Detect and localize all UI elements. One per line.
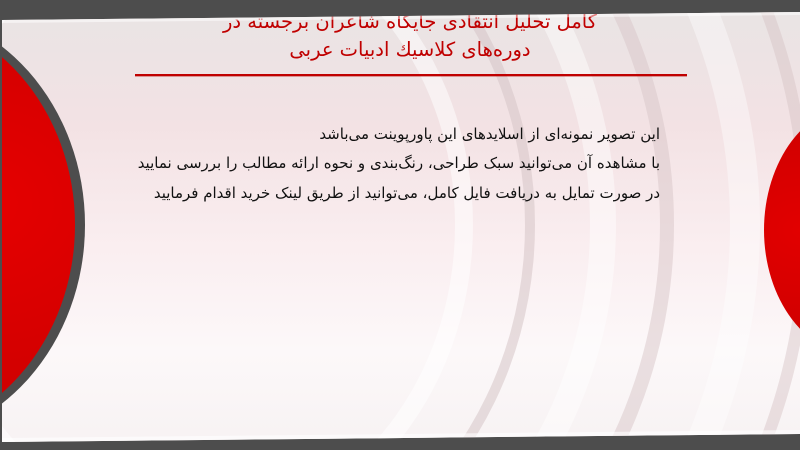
decorative-arc-band — [0, 0, 800, 450]
title-underline-rule — [135, 74, 687, 76]
decorative-arc-band — [0, 0, 800, 450]
slide-body-text: این تصویر نمونه‌ای از اسلایدهای این پاور… — [60, 120, 660, 208]
presentation-slide: کامل تحلیل انتقادی جایگاه شاعران برجسته … — [0, 0, 800, 450]
panel-background-gradient — [0, 0, 800, 450]
body-text-line-3: در صورت تمایل به دریافت فایل کامل، می‌تو… — [60, 179, 660, 208]
body-text-line-1: این تصویر نمونه‌ای از اسلایدهای این پاور… — [60, 120, 660, 149]
body-text-line-2: با مشاهده آن می‌توانید سبک طراحی، رنگ‌بن… — [60, 149, 660, 178]
decorative-arc-band — [0, 0, 760, 450]
slide-title-line-2: دوره‌های کلاسیك ادبیات عربی — [120, 36, 700, 64]
decorative-arc-bands — [0, 0, 800, 450]
decorative-arc-band — [0, 0, 800, 450]
slide-content-panel: کامل تحلیل انتقادی جایگاه شاعران برجسته … — [0, 0, 800, 450]
decorative-arc-band — [0, 0, 674, 450]
decorative-arc-band — [0, 0, 800, 450]
decorative-arc-band — [0, 0, 616, 450]
